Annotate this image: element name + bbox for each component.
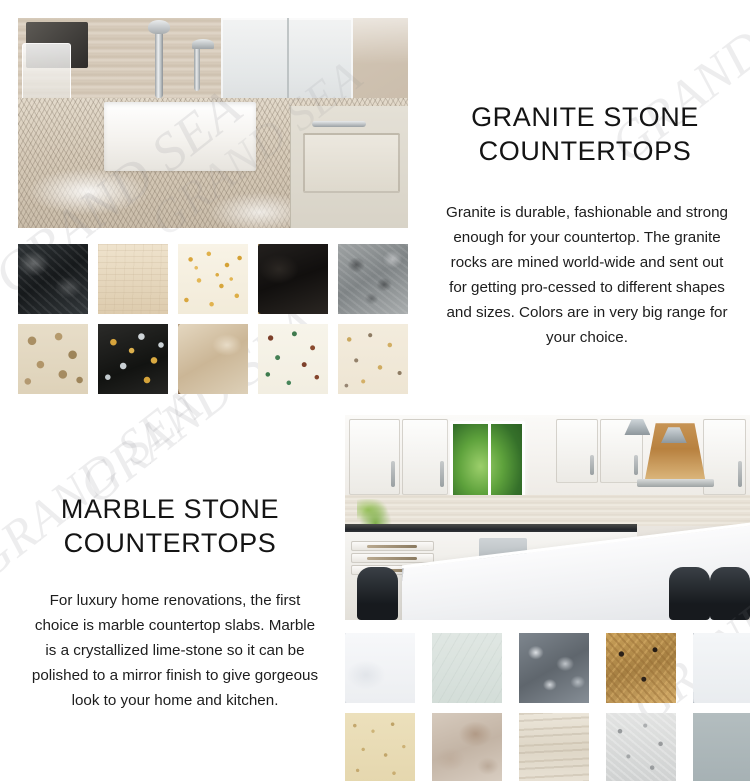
marble-swatch[interactable] [693,713,750,781]
marble-heading: MARBLE STONE COUNTERTOPS [15,492,325,560]
product-description-page: GRAND SEA GRAND SEA GRAND SEA GRAND SEA … [0,0,750,781]
marble-swatch[interactable] [519,713,589,781]
marble-swatch[interactable] [345,713,415,781]
granite-countertop-sink-photo [18,18,408,228]
granite-swatch[interactable] [178,324,248,394]
upper-cabinet [402,419,449,495]
undermount-sink [104,102,256,171]
marble-swatch[interactable] [345,633,415,703]
granite-swatch[interactable] [18,324,88,394]
marble-description: For luxury home renovations, the first c… [30,588,320,713]
range-hood-trim [637,479,714,487]
glass-jar [22,43,71,104]
faucet-icon [155,22,163,98]
backsplash [345,495,750,526]
marble-swatch[interactable] [693,633,750,703]
granite-swatch[interactable] [258,324,328,394]
granite-swatch[interactable] [338,324,408,394]
drawer [351,541,435,551]
granite-description: Granite is durable, fashionable and stro… [442,200,732,350]
granite-swatch[interactable] [178,244,248,314]
base-cabinet [290,106,408,228]
granite-heading-line1: GRANITE STONE [430,100,740,134]
cabinet-panel [303,133,401,193]
granite-swatch[interactable] [258,244,328,314]
potted-plant [357,499,393,526]
bar-stool [357,567,398,620]
upper-cabinet [349,419,400,495]
bar-stool [710,567,750,620]
granite-heading: GRANITE STONE COUNTERTOPS [430,100,740,168]
marble-heading-line1: MARBLE STONE [15,492,325,526]
bar-stool [669,567,710,620]
marble-swatch[interactable] [606,713,676,781]
granite-swatch[interactable] [338,244,408,314]
marble-swatch[interactable] [606,633,676,703]
granite-swatch[interactable] [98,244,168,314]
cabinet-handle-icon [312,121,366,127]
drawer [351,553,435,563]
granite-swatch[interactable] [18,244,88,314]
marble-swatch[interactable] [432,633,502,703]
granite-swatch-grid [18,244,408,394]
granite-heading-line2: COUNTERTOPS [430,134,740,168]
marble-swatch[interactable] [432,713,502,781]
marble-heading-line2: COUNTERTOPS [15,526,325,560]
marble-island-kitchen-photo [345,415,750,620]
marble-swatch-grid [345,633,750,781]
marble-swatch[interactable] [519,633,589,703]
upper-cabinet [556,419,599,483]
granite-swatch[interactable] [98,324,168,394]
soap-dispenser-icon [194,45,200,91]
